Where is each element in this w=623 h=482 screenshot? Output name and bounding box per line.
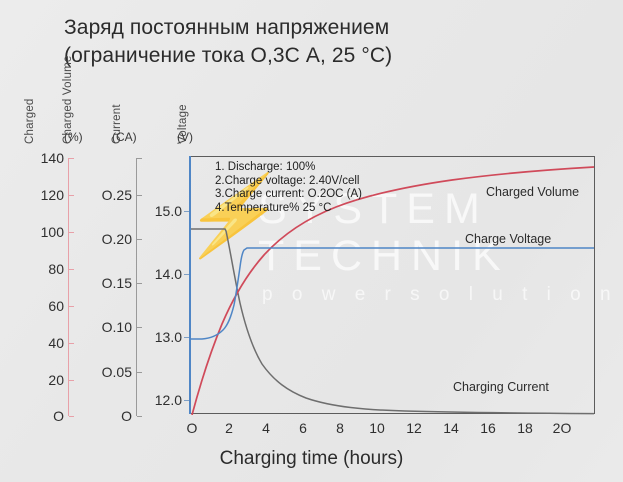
- chart-note-line-2: 2.Charge voltage: 2.40V/cell: [215, 175, 362, 189]
- chart-note-line-3: 3.Charge current: O.2OC (A): [215, 188, 362, 202]
- tick-cur-025: [137, 195, 142, 196]
- title-line-2: (ограничение тока О,3С А, 25 °C): [64, 42, 604, 70]
- x-axis-title: Charging time (hours): [0, 448, 623, 470]
- axis-unit-ca: (CA): [112, 130, 137, 144]
- tick-cur-005: [137, 372, 142, 373]
- tick-label-v-12: 12.0: [140, 392, 182, 408]
- chart-note-line-1: 1. Discharge: 100%: [215, 161, 362, 175]
- page-title: Заряд постоянным напряжением (ограничени…: [64, 14, 604, 70]
- series-label-charged-volume: Charged Volume: [486, 185, 579, 199]
- xtick-8: 8: [336, 420, 344, 436]
- tick-cur-010: [137, 327, 142, 328]
- tick-cur-top: [137, 158, 142, 159]
- xtick-6: 6: [299, 420, 307, 436]
- tick-label-v-13: 13.0: [140, 329, 182, 345]
- tick-cur-020: [137, 239, 142, 240]
- tick-cur-015: [137, 283, 142, 284]
- plot-voltage-spine: [189, 156, 191, 414]
- tick-label-v-14: 14.0: [140, 266, 182, 282]
- plot-area: 1. Discharge: 100% 2.Charge voltage: 2.4…: [190, 156, 595, 414]
- chart-page: Заряд постоянным напряжением (ограничени…: [0, 0, 623, 482]
- xtick-16: 16: [480, 420, 496, 436]
- title-line-1: Заряд постоянным напряжением: [64, 14, 604, 42]
- axis-voltage: 15.0 14.0 13.0 12.0: [0, 0, 90, 482]
- xtick-12: 12: [406, 420, 422, 436]
- chart-note: 1. Discharge: 100% 2.Charge voltage: 2.4…: [215, 161, 362, 215]
- xtick-4: 4: [262, 420, 270, 436]
- chart-note-line-4: 4.Temperature% 25 °C: [215, 202, 362, 216]
- xtick-20: 2O: [553, 420, 572, 436]
- series-label-charging-current: Charging Current: [453, 380, 549, 394]
- axis-unit-v: (V): [177, 130, 193, 144]
- xtick-14: 14: [443, 420, 459, 436]
- xtick-10: 10: [369, 420, 385, 436]
- series-label-charge-voltage: Charge Voltage: [465, 232, 551, 246]
- tick-cur-0: [137, 416, 142, 417]
- series-charge-voltage-line: [191, 248, 594, 339]
- xtick-2: 2: [225, 420, 233, 436]
- xtick-18: 18: [517, 420, 533, 436]
- tick-label-v-15: 15.0: [140, 203, 182, 219]
- xtick-0: O: [187, 420, 198, 436]
- axis-current-spine: [136, 158, 137, 416]
